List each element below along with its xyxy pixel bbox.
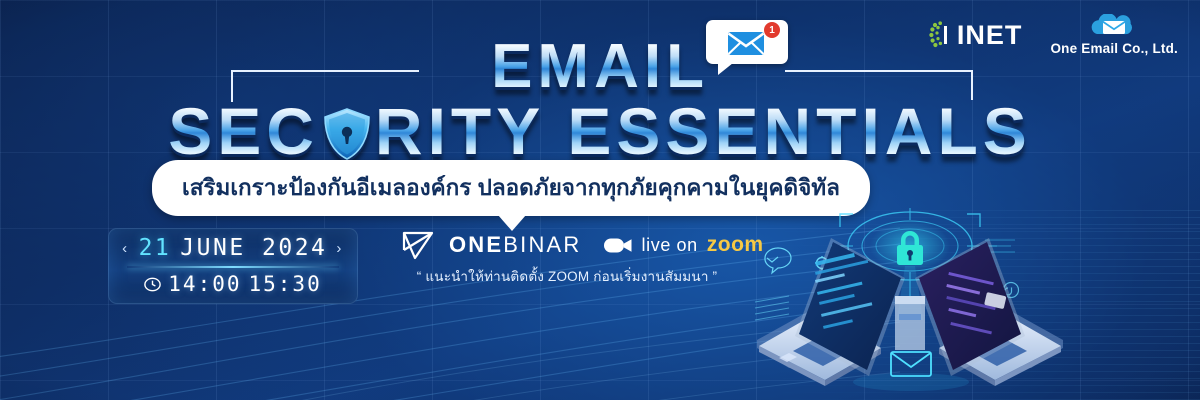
prev-arrow-icon[interactable]: ‹	[122, 240, 130, 257]
headline-group: EMAIL SEC RITY	[0, 36, 1200, 164]
headline-part-sec: SEC	[168, 98, 319, 164]
event-time-end: 15:30	[249, 272, 322, 296]
shield-lock-icon	[321, 106, 373, 162]
platform-brand-bold: ONE	[449, 232, 503, 257]
onebinar-logo-icon	[402, 230, 440, 260]
server-tower	[895, 296, 925, 350]
platform-group: ONEBINAR live on zoom “ แนะนำให้ท่านติดต…	[402, 230, 764, 287]
cyber-security-illustration	[735, 200, 1085, 400]
headline-line-security-essentials: SEC RITY ESSENTIALS	[0, 98, 1200, 164]
clock-icon	[144, 276, 161, 293]
envelope-glow-icon	[891, 352, 931, 376]
event-day: 21	[139, 235, 172, 261]
headline-part-rity-essentials: RITY ESSENTIALS	[375, 98, 1032, 164]
event-month-year: JUNE 2024	[180, 235, 327, 261]
platform-brand-light: BINAR	[503, 232, 581, 257]
panel-divider	[127, 266, 339, 268]
event-time-start: 14:00	[168, 272, 241, 296]
event-time-row: 14:00 15:30	[109, 272, 357, 296]
subtitle-tail	[498, 215, 526, 231]
platform-note: “ แนะนำให้ท่านติดตั้ง ZOOM ก่อนเริ่มงานส…	[402, 265, 732, 287]
headline-line-email: EMAIL	[0, 36, 1200, 98]
platform-brand: ONEBINAR	[449, 232, 582, 258]
event-date-row: ‹ 21 JUNE 2024 ›	[109, 235, 357, 261]
video-camera-icon	[603, 236, 633, 255]
event-date-time-panel: ‹ 21 JUNE 2024 › 14:00 15:30	[108, 228, 358, 304]
email-security-webinar-banner: INET One Email Co., Ltd. 1 EMAIL SEC	[0, 0, 1200, 400]
platform-row: ONEBINAR live on zoom	[402, 230, 764, 260]
next-arrow-icon[interactable]: ›	[336, 240, 344, 257]
live-on-label: live on	[642, 235, 698, 256]
